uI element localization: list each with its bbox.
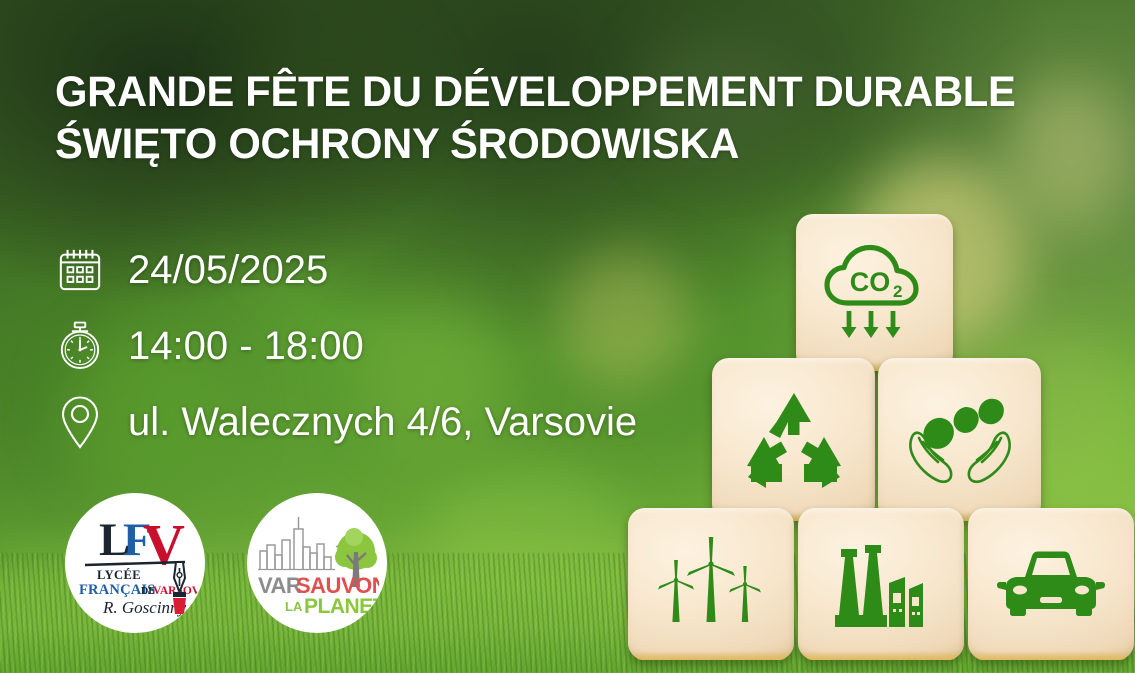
wooden-blocks-pyramid: CO 2 xyxy=(628,210,1135,650)
logo-varsauvons-la-planete: VAR SAUVONS LA PLANETE xyxy=(247,493,387,633)
page-title: GRANDE FÊTE DU DÉVELOPPEMENT DURABLE ŚWI… xyxy=(55,66,1095,170)
co2-cloud-icon: CO 2 xyxy=(819,241,931,345)
logo-word-planete: PLANETE xyxy=(304,595,379,618)
co2-label: CO xyxy=(849,267,890,297)
wind-turbines-icon xyxy=(656,534,766,634)
block-co2: CO 2 xyxy=(796,214,953,371)
event-time-text: 14:00 - 18:00 xyxy=(128,324,364,368)
factory-icon xyxy=(829,537,933,631)
co2-arrows xyxy=(841,311,900,338)
event-time-row: 14:00 - 18:00 xyxy=(52,308,637,384)
event-date-row: 24/05/2025 xyxy=(52,232,637,308)
event-date-text: 24/05/2025 xyxy=(128,248,328,292)
logo-word-la: LA xyxy=(285,599,303,614)
recycle-icon xyxy=(742,390,846,490)
hands-holding-leaves-icon xyxy=(905,389,1015,491)
partner-logos: L F V LYCÉE FRANÇAIS DE VARSOVIE R. Gosc… xyxy=(65,493,387,633)
calendar-icon xyxy=(52,240,108,300)
logo-lycee-francais-de-varsovie: L F V LYCÉE FRANÇAIS DE VARSOVIE R. Gosc… xyxy=(65,493,205,633)
co2-subscript: 2 xyxy=(893,282,902,301)
block-recycle xyxy=(712,358,875,521)
location-pin-icon xyxy=(52,392,108,452)
logo-line-lycee: LYCÉE xyxy=(97,568,141,582)
event-details-list: 24/05/2025 xyxy=(52,232,637,460)
event-location-row: ul. Walecznych 4/6, Varsovie xyxy=(52,384,637,460)
block-car xyxy=(968,508,1134,660)
title-line-polish: ŚWIĘTO OCHRONY ŚRODOWISKA xyxy=(55,118,1064,170)
car-icon xyxy=(996,544,1106,624)
block-hands-leaves xyxy=(878,358,1041,521)
event-poster: GRANDE FÊTE DU DÉVELOPPEMENT DURABLE ŚWI… xyxy=(0,0,1135,673)
block-wind-turbines xyxy=(628,508,794,660)
event-location-text: ul. Walecznych 4/6, Varsovie xyxy=(128,400,637,444)
title-line-french: GRANDE FÊTE DU DÉVELOPPEMENT DURABLE xyxy=(55,66,1064,118)
stopwatch-icon xyxy=(52,316,108,376)
block-factory xyxy=(798,508,964,660)
